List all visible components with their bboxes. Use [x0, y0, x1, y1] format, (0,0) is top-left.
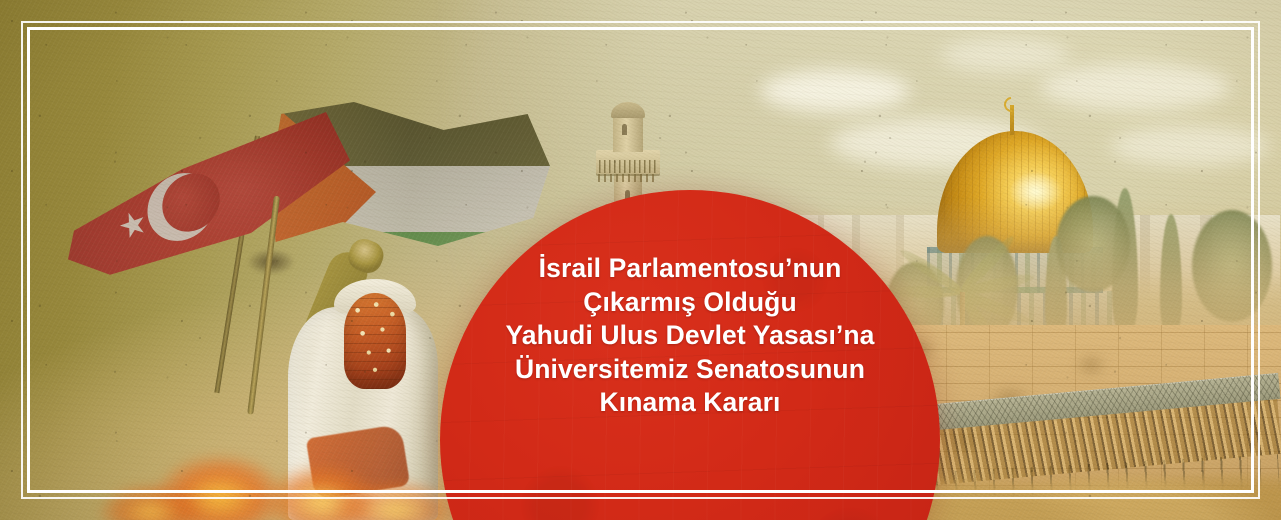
headline-line-3: Yahudi Ulus Devlet Yasası’na	[440, 319, 940, 353]
page-title: İsrail Parlamentosu’nun Çıkarmış Olduğu …	[440, 252, 940, 420]
headline-line-2: Çıkarmış Olduğu	[440, 286, 940, 320]
announcement-banner: İsrail Parlamentosu’nun Çıkarmış Olduğu …	[0, 0, 1281, 520]
headline-line-4: Üniversitemiz Senatosunun	[440, 353, 940, 387]
headline-line-5: Kınama Kararı	[440, 386, 940, 420]
headline-line-1: İsrail Parlamentosu’nun	[440, 252, 940, 286]
